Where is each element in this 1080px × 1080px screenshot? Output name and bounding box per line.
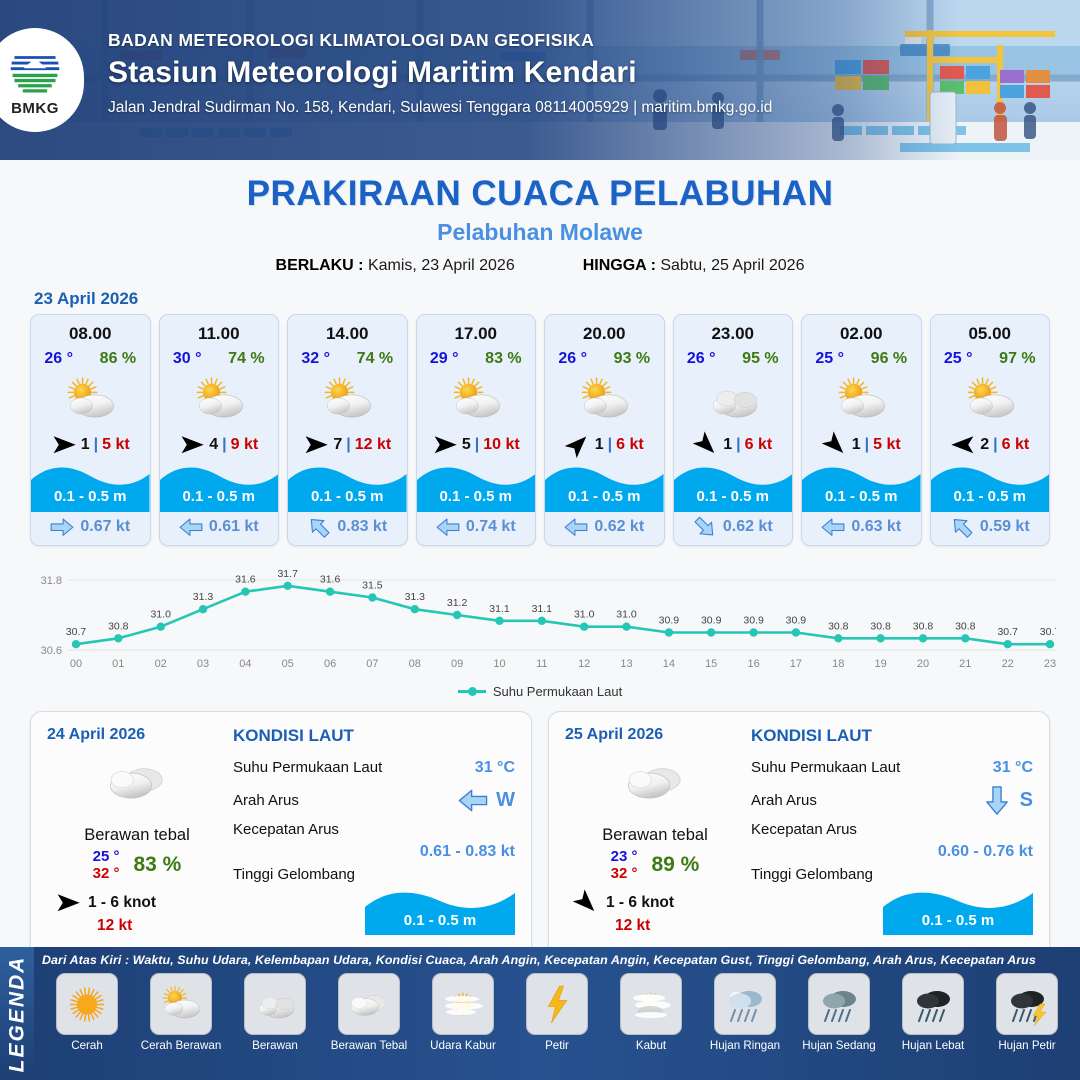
- svg-text:15: 15: [705, 658, 717, 670]
- valid-to-value: Sabtu, 25 April 2026: [660, 257, 804, 274]
- current-direction-arrow-icon: [821, 518, 845, 536]
- forecast-card: 14.00 32 ° 74 % 7: [287, 314, 408, 546]
- card-time: 20.00: [583, 324, 626, 344]
- card-temperature: 32 °: [301, 350, 330, 368]
- day-wind-range: 1 - 6 knot: [88, 894, 156, 912]
- forecast-card: 23.00 26 ° 95 % 1: [673, 314, 794, 546]
- svg-text:02: 02: [155, 658, 167, 670]
- card-wind: 1 | 6 kt: [545, 432, 664, 458]
- legend-items: Cerah Cerah Berawan: [42, 973, 1072, 1052]
- svg-text:31.0: 31.0: [616, 609, 637, 621]
- legend-item: Hujan Petir: [982, 973, 1072, 1052]
- day-temp-min: 25 °: [93, 848, 120, 865]
- chart-legend-label: Suhu Permukaan Laut: [493, 684, 622, 699]
- legend-item-label: Hujan Ringan: [710, 1039, 780, 1052]
- berawan-tebal-icon: [565, 750, 745, 812]
- current-direction-value-group: W: [458, 789, 515, 812]
- card-humidity: 83 %: [485, 350, 521, 368]
- svg-text:21: 21: [959, 658, 971, 670]
- day-sea-conditions: KONDISI LAUT Suhu Permukaan Laut 31 °C A…: [227, 726, 515, 944]
- forecast-card: 05.00 25 ° 97 % 2: [930, 314, 1051, 546]
- daily-summary-row: 24 April 2026 Berawan tebal 25 ° 32 ° 83…: [0, 699, 1080, 957]
- svg-text:00: 00: [70, 658, 82, 670]
- wind-direction-arrow-icon: [303, 435, 329, 455]
- card-wind-sep: |: [94, 436, 98, 454]
- valid-from-value: Kamis, 23 April 2026: [368, 257, 515, 274]
- svg-text:23: 23: [1044, 658, 1056, 670]
- card-current-speed: 0.63 kt: [851, 518, 901, 536]
- current-direction-arrow-icon: [950, 518, 974, 536]
- day-left: 25 April 2026 Berawan tebal 23 ° 32 ° 89…: [565, 726, 745, 944]
- svg-text:20: 20: [917, 658, 929, 670]
- sst-row: Suhu Permukaan Laut 31 °C: [751, 751, 1033, 784]
- card-current: 0.67 kt: [31, 512, 150, 545]
- card-wind-sep: |: [346, 436, 350, 454]
- day-condition: Berawan tebal: [47, 826, 227, 845]
- legend-vertical-title: LEGENDA: [0, 947, 34, 1080]
- wind-direction-arrow-icon: [179, 435, 205, 455]
- card-wave-value: 0.1 - 0.5 m: [288, 488, 407, 505]
- day-date: 25 April 2026: [565, 726, 745, 744]
- current-direction-arrow-icon: [458, 789, 488, 812]
- legend-item-label: Berawan Tebal: [331, 1039, 408, 1052]
- svg-text:19: 19: [874, 658, 886, 670]
- legend-item: Petir: [512, 973, 602, 1052]
- card-wind-dir: 1: [852, 436, 861, 454]
- card-time: 23.00: [711, 324, 754, 344]
- udara-kabur-icon: [432, 973, 494, 1035]
- current-direction-label: Arah Arus: [233, 792, 299, 809]
- svg-text:31.2: 31.2: [447, 597, 468, 609]
- card-current-speed: 0.61 kt: [209, 518, 259, 536]
- legend-item-label: Kabut: [636, 1039, 666, 1052]
- card-current: 0.59 kt: [931, 512, 1050, 545]
- wave-height-value: 0.1 - 0.5 m: [365, 912, 515, 929]
- current-direction-arrow-icon: [436, 518, 460, 536]
- current-direction-arrow-icon: [564, 518, 588, 536]
- svg-text:30.6: 30.6: [41, 645, 62, 657]
- legend-item-label: Petir: [545, 1039, 569, 1052]
- svg-text:03: 03: [197, 658, 209, 670]
- card-gust: 12 kt: [355, 436, 391, 454]
- sst-row: Suhu Permukaan Laut 31 °C: [233, 751, 515, 784]
- card-wind-dir: 5: [462, 436, 471, 454]
- current-direction-row: Arah Arus S: [751, 784, 1033, 817]
- card-wave-value: 0.1 - 0.5 m: [545, 488, 664, 505]
- legend-item-label: Cerah: [71, 1039, 103, 1052]
- svg-text:14: 14: [663, 658, 675, 670]
- card-humidity: 95 %: [742, 350, 778, 368]
- card-wind-dir: 1: [723, 436, 732, 454]
- current-direction-value: S: [1020, 789, 1033, 812]
- legend-item: Kabut: [606, 973, 696, 1052]
- svg-text:31.0: 31.0: [150, 609, 171, 621]
- validity-row: BERLAKU : Kamis, 23 April 2026 HINGGA : …: [0, 257, 1080, 275]
- sst-value: 31 °C: [993, 759, 1033, 777]
- card-time: 02.00: [840, 324, 883, 344]
- cerah-icon: [56, 973, 118, 1035]
- page-title: PRAKIRAAN CUACA PELABUHAN: [0, 174, 1080, 214]
- current-speed-row: Kecepatan Arus: [751, 817, 1033, 841]
- svg-text:30.8: 30.8: [955, 621, 976, 633]
- hujan-petir-icon: [996, 973, 1058, 1035]
- svg-text:07: 07: [366, 658, 378, 670]
- svg-text:09: 09: [451, 658, 463, 670]
- card-wind-dir: 1: [81, 436, 90, 454]
- forecast-card: 11.00 30 ° 74 % 4: [159, 314, 280, 546]
- card-humidity: 96 %: [871, 350, 907, 368]
- day-wind-range: 1 - 6 knot: [606, 894, 674, 912]
- sst-value: 31 °C: [475, 759, 515, 777]
- station-name: Stasiun Meteorologi Maritim Kendari: [108, 56, 772, 90]
- card-wave-value: 0.1 - 0.5 m: [931, 488, 1050, 505]
- berawan-tebal-icon: [47, 750, 227, 812]
- current-speed-row: Kecepatan Arus: [233, 817, 515, 841]
- wind-direction-arrow-icon: [573, 893, 599, 913]
- card-current: 0.83 kt: [288, 512, 407, 545]
- card-current: 0.61 kt: [160, 512, 279, 545]
- card-wave-value: 0.1 - 0.5 m: [674, 488, 793, 505]
- card-wind-dir: 2: [980, 436, 989, 454]
- valid-to-label: HINGGA :: [583, 257, 656, 274]
- card-gust: 6 kt: [1002, 436, 1030, 454]
- legend-bar: LEGENDA Dari Atas Kiri : Waktu, Suhu Uda…: [0, 947, 1080, 1080]
- card-temperature: 26 °: [687, 350, 716, 368]
- card-wind-sep: |: [736, 436, 740, 454]
- sst-label: Suhu Permukaan Laut: [751, 759, 900, 776]
- card-temperature: 26 °: [44, 350, 73, 368]
- current-direction-row: Arah Arus W: [233, 784, 515, 817]
- legend-item-label: Berawan: [252, 1039, 298, 1052]
- legend-item: Berawan Tebal: [324, 973, 414, 1052]
- card-wave-value: 0.1 - 0.5 m: [31, 488, 150, 505]
- valid-to: HINGGA : Sabtu, 25 April 2026: [583, 257, 805, 275]
- svg-text:31.6: 31.6: [235, 574, 256, 586]
- card-wind: 4 | 9 kt: [160, 432, 279, 458]
- valid-from: BERLAKU : Kamis, 23 April 2026: [276, 257, 515, 275]
- legend-item-label: Hujan Petir: [998, 1039, 1055, 1052]
- current-speed-value: 0.60 - 0.76 kt: [751, 843, 1033, 861]
- card-wave-value: 0.1 - 0.5 m: [802, 488, 921, 505]
- svg-text:11: 11: [536, 658, 547, 670]
- svg-text:30.8: 30.8: [108, 621, 129, 633]
- forecast-card: 08.00 26 ° 86 % 1: [30, 314, 151, 546]
- svg-text:31.1: 31.1: [532, 603, 553, 615]
- chart-legend-swatch: [458, 690, 486, 693]
- forecast-card: 17.00 29 ° 83 % 5: [416, 314, 537, 546]
- hujan-lebat-icon: [902, 973, 964, 1035]
- current-speed-label: Kecepatan Arus: [751, 821, 857, 838]
- day-temp-max: 32 °: [93, 865, 120, 882]
- legend-item-label: Hujan Lebat: [902, 1039, 965, 1052]
- card-wind: 7 | 12 kt: [288, 432, 407, 458]
- wave-height-label: Tinggi Gelombang: [751, 866, 873, 883]
- card-wave: 0.1 - 0.5 m: [674, 460, 793, 512]
- cerah-berawan-icon: [830, 372, 892, 428]
- cerah-berawan-icon: [959, 372, 1021, 428]
- card-temperature: 25 °: [944, 350, 973, 368]
- day-temp-col: 23 ° 32 °: [611, 848, 638, 882]
- svg-text:31.6: 31.6: [320, 574, 341, 586]
- card-wind-sep: |: [865, 436, 869, 454]
- wind-direction-arrow-icon: [55, 893, 81, 913]
- day-left: 24 April 2026 Berawan tebal 25 ° 32 ° 83…: [47, 726, 227, 944]
- bmkg-logo-mark: [7, 43, 63, 99]
- legend-item-label: Cerah Berawan: [141, 1039, 222, 1052]
- cerah-berawan-icon: [188, 372, 250, 428]
- card-temperature: 26 °: [558, 350, 587, 368]
- chart-legend: Suhu Permukaan Laut: [0, 684, 1080, 699]
- sst-label: Suhu Permukaan Laut: [233, 759, 382, 776]
- daily-summary-card: 24 April 2026 Berawan tebal 25 ° 32 ° 83…: [30, 711, 532, 957]
- card-current: 0.63 kt: [802, 512, 921, 545]
- current-direction-label: Arah Arus: [751, 792, 817, 809]
- day-gust: 12 kt: [47, 917, 227, 935]
- sst-chart: 31.830.630.70030.80131.00231.30331.60431…: [24, 562, 1056, 680]
- svg-text:01: 01: [112, 658, 124, 670]
- card-current: 0.74 kt: [417, 512, 536, 545]
- title-section: PRAKIRAAN CUACA PELABUHAN Pelabuhan Mola…: [0, 160, 1080, 275]
- cerah-berawan-icon: [150, 973, 212, 1035]
- card-humidity: 86 %: [100, 350, 136, 368]
- svg-text:22: 22: [1002, 658, 1014, 670]
- svg-text:31.8: 31.8: [41, 575, 62, 587]
- card-time: 11.00: [198, 324, 240, 344]
- day-temps: 25 ° 32 ° 83 %: [47, 848, 227, 882]
- svg-text:30.8: 30.8: [870, 621, 891, 633]
- svg-text:31.7: 31.7: [277, 568, 298, 580]
- day-temps: 23 ° 32 ° 89 %: [565, 848, 745, 882]
- page-header: BMKG BADAN METEOROLOGI KLIMATOLOGI DAN G…: [0, 0, 1080, 160]
- svg-text:18: 18: [832, 658, 844, 670]
- svg-text:06: 06: [324, 658, 336, 670]
- card-time: 05.00: [968, 324, 1011, 344]
- card-wind: 2 | 6 kt: [931, 432, 1050, 458]
- forecast-card: 02.00 25 ° 96 % 1: [801, 314, 922, 546]
- station-address: Jalan Jendral Sudirman No. 158, Kendari,…: [108, 99, 772, 117]
- legend-item: Hujan Lebat: [888, 973, 978, 1052]
- cerah-berawan-icon: [316, 372, 378, 428]
- wave-height-value: 0.1 - 0.5 m: [883, 912, 1033, 929]
- current-direction-arrow-icon: [982, 789, 1012, 812]
- card-humidity: 74 %: [228, 350, 264, 368]
- card-current-speed: 0.83 kt: [337, 518, 387, 536]
- forecast-date-label: 23 April 2026: [34, 289, 1080, 309]
- card-wave-value: 0.1 - 0.5 m: [417, 488, 536, 505]
- wind-direction-arrow-icon: [822, 435, 848, 455]
- sea-conditions-title: KONDISI LAUT: [233, 726, 515, 746]
- card-temperature: 29 °: [430, 350, 459, 368]
- svg-text:30.9: 30.9: [701, 615, 722, 627]
- day-temp-col: 25 ° 32 °: [93, 848, 120, 882]
- wave-height-label: Tinggi Gelombang: [233, 866, 355, 883]
- page-subtitle: Pelabuhan Molawe: [0, 219, 1080, 246]
- svg-text:30.7: 30.7: [66, 627, 87, 639]
- current-speed-value: 0.61 - 0.83 kt: [233, 843, 515, 861]
- card-wind: 1 | 5 kt: [802, 432, 921, 458]
- forecast-card-row: 08.00 26 ° 86 % 1: [0, 314, 1080, 546]
- card-wind-dir: 1: [595, 436, 604, 454]
- card-humidity: 74 %: [357, 350, 393, 368]
- daily-summary-card: 25 April 2026 Berawan tebal 23 ° 32 ° 89…: [548, 711, 1050, 957]
- svg-text:31.3: 31.3: [405, 592, 426, 604]
- svg-text:31.3: 31.3: [193, 592, 214, 604]
- card-wave: 0.1 - 0.5 m: [931, 460, 1050, 512]
- berawan-icon: [702, 372, 764, 428]
- card-wave: 0.1 - 0.5 m: [802, 460, 921, 512]
- card-current-speed: 0.62 kt: [594, 518, 644, 536]
- current-direction-arrow-icon: [50, 518, 74, 536]
- card-time: 17.00: [454, 324, 497, 344]
- hujan-ringan-icon: [714, 973, 776, 1035]
- svg-text:16: 16: [747, 658, 759, 670]
- wind-direction-arrow-icon: [950, 435, 976, 455]
- svg-text:10: 10: [493, 658, 505, 670]
- svg-text:13: 13: [620, 658, 632, 670]
- svg-text:05: 05: [282, 658, 294, 670]
- day-humidity: 89 %: [651, 853, 699, 877]
- wind-direction-arrow-icon: [693, 435, 719, 455]
- legend-item: Hujan Ringan: [700, 973, 790, 1052]
- card-time: 14.00: [326, 324, 369, 344]
- svg-text:30.8: 30.8: [913, 621, 934, 633]
- card-gust: 6 kt: [616, 436, 644, 454]
- valid-from-label: BERLAKU :: [276, 257, 364, 274]
- current-speed-label: Kecepatan Arus: [233, 821, 339, 838]
- svg-text:30.9: 30.9: [786, 615, 807, 627]
- wave-height-graphic: 0.1 - 0.5 m: [883, 883, 1033, 935]
- svg-text:04: 04: [239, 658, 251, 670]
- card-current: 0.62 kt: [674, 512, 793, 545]
- card-wind-dir: 4: [209, 436, 218, 454]
- legend-item: Cerah: [42, 973, 132, 1052]
- header-texts: BADAN METEOROLOGI KLIMATOLOGI DAN GEOFIS…: [108, 30, 772, 117]
- day-condition: Berawan tebal: [565, 826, 745, 845]
- card-gust: 5 kt: [102, 436, 130, 454]
- card-wave-value: 0.1 - 0.5 m: [160, 488, 279, 505]
- cerah-berawan-icon: [573, 372, 635, 428]
- card-temperature: 30 °: [173, 350, 202, 368]
- berawan-icon: [244, 973, 306, 1035]
- bmkg-logo-text: BMKG: [11, 100, 59, 117]
- current-direction-value-group: S: [982, 789, 1033, 812]
- current-direction-arrow-icon: [693, 518, 717, 536]
- current-direction-value: W: [496, 789, 515, 812]
- agency-name: BADAN METEOROLOGI KLIMATOLOGI DAN GEOFIS…: [108, 30, 772, 51]
- card-gust: 9 kt: [231, 436, 259, 454]
- berawan-tebal-icon: [338, 973, 400, 1035]
- cerah-berawan-icon: [445, 372, 507, 428]
- current-direction-arrow-icon: [307, 518, 331, 536]
- day-humidity: 83 %: [133, 853, 181, 877]
- card-wind-sep: |: [475, 436, 479, 454]
- day-gust: 12 kt: [565, 917, 745, 935]
- sea-conditions-title: KONDISI LAUT: [751, 726, 1033, 746]
- petir-icon: [526, 973, 588, 1035]
- wave-height-graphic: 0.1 - 0.5 m: [365, 883, 515, 935]
- hujan-sedang-icon: [808, 973, 870, 1035]
- svg-text:30.8: 30.8: [828, 621, 849, 633]
- card-time: 08.00: [69, 324, 112, 344]
- legend-body: Dari Atas Kiri : Waktu, Suhu Udara, Kele…: [34, 947, 1080, 1080]
- card-wind-dir: 7: [333, 436, 342, 454]
- current-direction-arrow-icon: [179, 518, 203, 536]
- card-gust: 6 kt: [745, 436, 773, 454]
- card-wind-sep: |: [993, 436, 997, 454]
- card-humidity: 97 %: [999, 350, 1035, 368]
- day-temp-min: 23 °: [611, 848, 638, 865]
- forecast-card: 20.00 26 ° 93 % 1: [544, 314, 665, 546]
- kabut-icon: [620, 973, 682, 1035]
- card-wind: 5 | 10 kt: [417, 432, 536, 458]
- legend-item-label: Hujan Sedang: [802, 1039, 876, 1052]
- wind-direction-arrow-icon: [565, 435, 591, 455]
- svg-text:12: 12: [578, 658, 590, 670]
- svg-text:08: 08: [409, 658, 421, 670]
- card-wind: 1 | 5 kt: [31, 432, 150, 458]
- day-temp-max: 32 °: [611, 865, 638, 882]
- legend-item: Cerah Berawan: [136, 973, 226, 1052]
- card-current-speed: 0.74 kt: [466, 518, 516, 536]
- card-current-speed: 0.62 kt: [723, 518, 773, 536]
- day-sea-conditions: KONDISI LAUT Suhu Permukaan Laut 31 °C A…: [745, 726, 1033, 944]
- legend-item-label: Udara Kabur: [430, 1039, 496, 1052]
- legend-item: Hujan Sedang: [794, 973, 884, 1052]
- card-wave: 0.1 - 0.5 m: [288, 460, 407, 512]
- card-temperature: 25 °: [815, 350, 844, 368]
- card-wind-sep: |: [222, 436, 226, 454]
- legend-note: Dari Atas Kiri : Waktu, Suhu Udara, Kele…: [42, 953, 1072, 967]
- svg-text:30.9: 30.9: [743, 615, 764, 627]
- card-wind-sep: |: [608, 436, 612, 454]
- day-wind: 1 - 6 knot: [565, 893, 745, 913]
- card-gust: 5 kt: [873, 436, 901, 454]
- svg-text:30.9: 30.9: [659, 615, 680, 627]
- legend-item: Berawan: [230, 973, 320, 1052]
- card-wave: 0.1 - 0.5 m: [31, 460, 150, 512]
- svg-text:30.7: 30.7: [997, 627, 1018, 639]
- cerah-berawan-icon: [59, 372, 121, 428]
- card-humidity: 93 %: [614, 350, 650, 368]
- svg-text:17: 17: [790, 658, 802, 670]
- card-wave: 0.1 - 0.5 m: [545, 460, 664, 512]
- card-wind: 1 | 6 kt: [674, 432, 793, 458]
- svg-text:31.5: 31.5: [362, 580, 383, 592]
- card-current: 0.62 kt: [545, 512, 664, 545]
- card-gust: 10 kt: [483, 436, 519, 454]
- wind-direction-arrow-icon: [51, 435, 77, 455]
- card-wave: 0.1 - 0.5 m: [160, 460, 279, 512]
- card-current-speed: 0.67 kt: [80, 518, 130, 536]
- svg-text:30.7: 30.7: [1040, 627, 1056, 639]
- card-current-speed: 0.59 kt: [980, 518, 1030, 536]
- legend-item: Udara Kabur: [418, 973, 508, 1052]
- day-date: 24 April 2026: [47, 726, 227, 744]
- wind-direction-arrow-icon: [432, 435, 458, 455]
- day-wind: 1 - 6 knot: [47, 893, 227, 913]
- card-wave: 0.1 - 0.5 m: [417, 460, 536, 512]
- svg-text:31.0: 31.0: [574, 609, 595, 621]
- svg-text:31.1: 31.1: [489, 603, 510, 615]
